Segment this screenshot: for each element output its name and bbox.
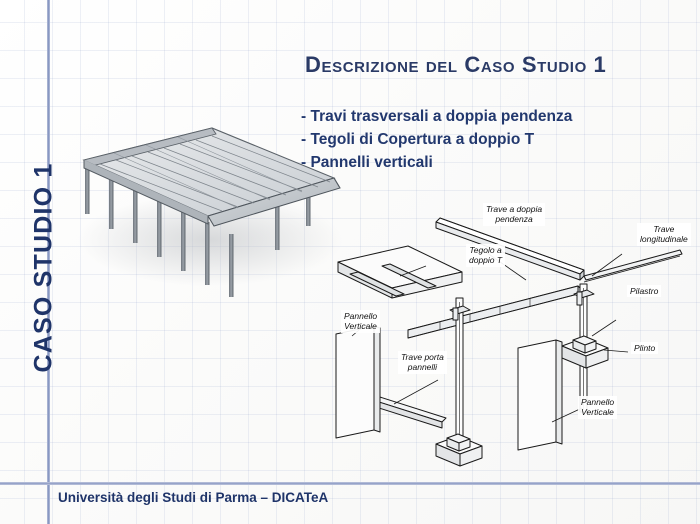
label-tegolo-doppio-t: Tegolo a doppio T <box>466 244 505 267</box>
pannello-verticale-right <box>518 340 562 450</box>
plinto-right <box>562 336 608 368</box>
page-title: Descrizione del Caso Studio 1 <box>305 52 606 78</box>
trave-longitudinale <box>584 250 682 282</box>
side-title: CASO STUDIO 1 <box>30 128 59 408</box>
label-pilastro: Pilastro <box>627 285 661 297</box>
label-pannello-verticale-right: Pannello Verticale <box>578 396 617 419</box>
label-trave-longitudinale: Trave longitudinale <box>637 223 691 246</box>
pannello-verticale-left <box>336 326 380 438</box>
trave-doppia-pendenza-main <box>408 286 582 338</box>
footer-text: Università degli Studi di Parma – DICATe… <box>58 490 328 505</box>
label-trave-doppia-pendenza: Trave a doppia pendenza <box>483 203 545 226</box>
label-trave-porta-pannelli: Trave porta pannelli <box>398 351 447 374</box>
tegolo-doppio-t <box>338 246 462 298</box>
label-plinto: Plinto <box>631 342 658 354</box>
label-pannello-verticale-left: Pannello Verticale <box>341 310 380 333</box>
plinto-center-footing <box>436 434 482 466</box>
shed-3d-render <box>62 112 362 297</box>
